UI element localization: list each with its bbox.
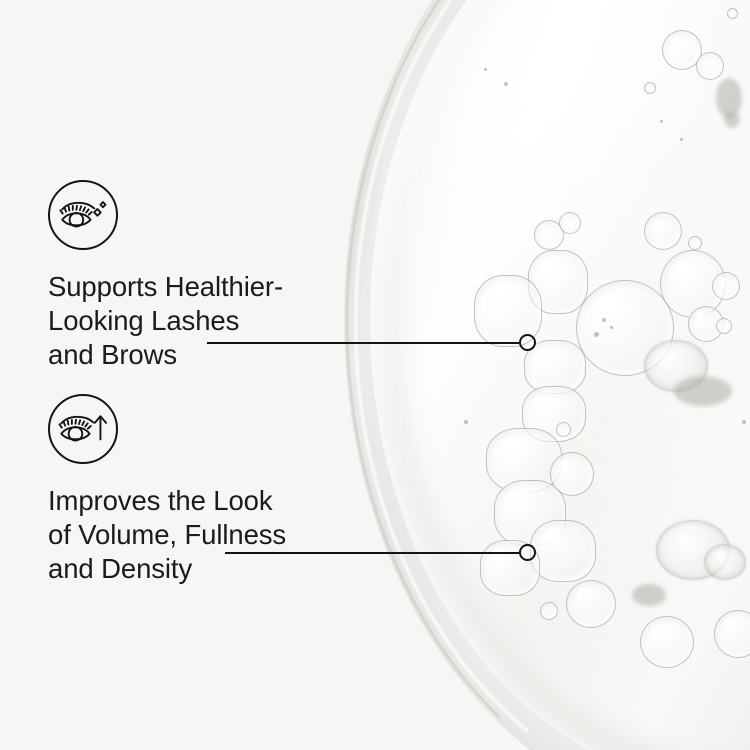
feature-item-2: Improves the Look of Volume, Fullness an… <box>48 394 286 586</box>
feature-2-text: Improves the Look of Volume, Fullness an… <box>48 484 286 586</box>
product-benefits-panel: Supports Healthier- Looking Lashes and B… <box>0 0 750 750</box>
eye-with-lashes-and-up-arrow-icon <box>48 394 118 464</box>
leader-endpoint-1 <box>519 334 536 351</box>
benefits-overlay: Supports Healthier- Looking Lashes and B… <box>0 0 750 750</box>
feature-item-1: Supports Healthier- Looking Lashes and B… <box>48 180 283 372</box>
leader-endpoint-2 <box>519 544 536 561</box>
eye-with-lashes-and-sparkles-icon <box>48 180 118 250</box>
feature-1-text: Supports Healthier- Looking Lashes and B… <box>48 270 283 372</box>
